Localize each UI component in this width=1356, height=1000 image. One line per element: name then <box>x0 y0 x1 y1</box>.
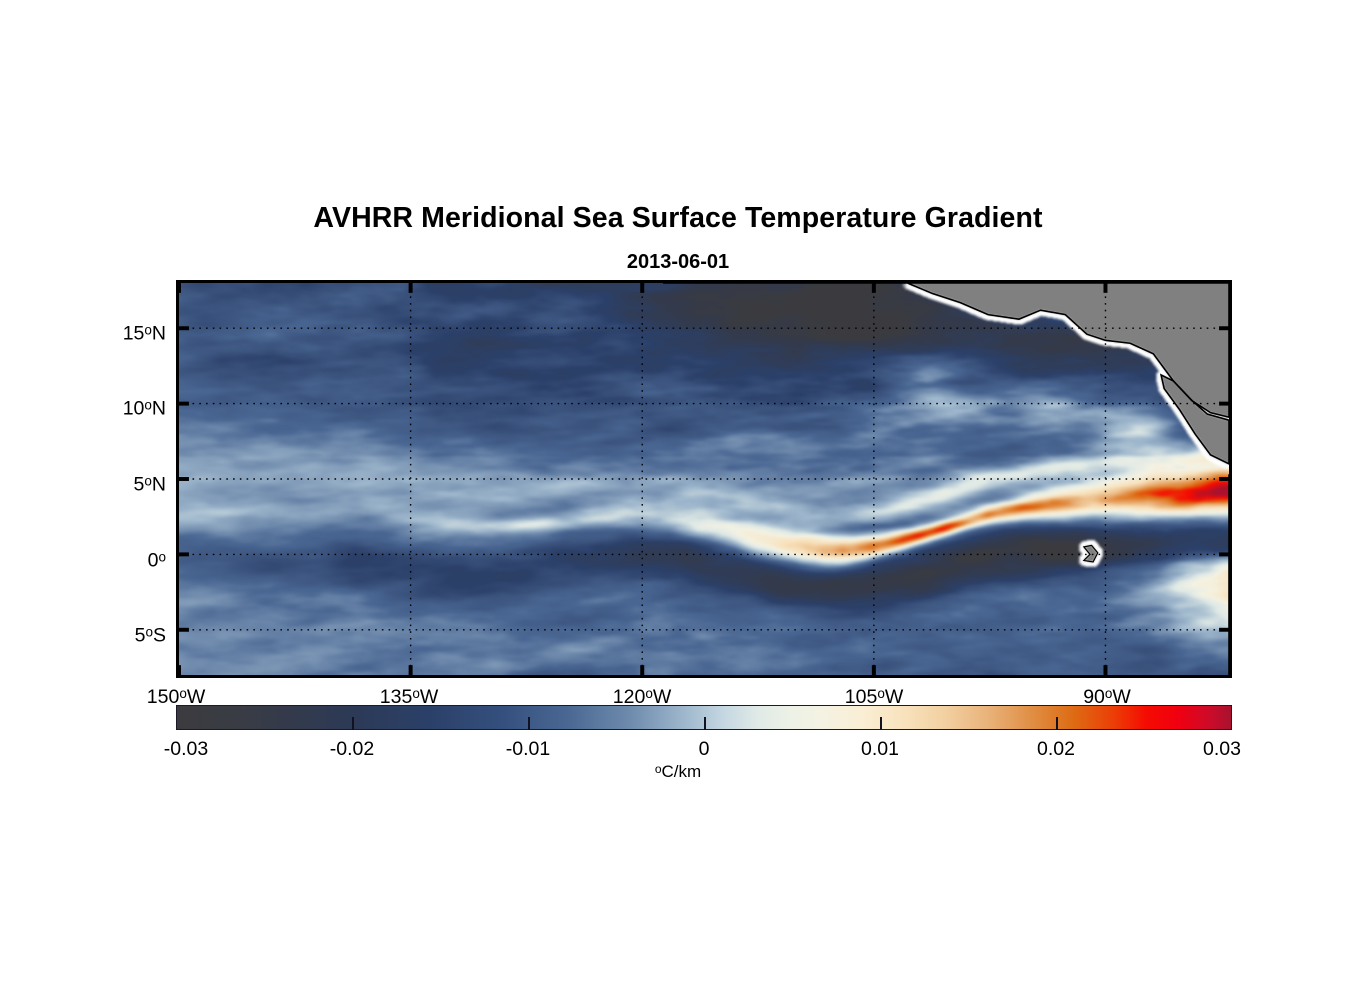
colorbar-tick-zero <box>704 717 706 730</box>
y-tick-label-0: 0o <box>56 550 166 573</box>
colorbar[interactable] <box>176 705 1232 730</box>
colorbar-label-zero: 0 <box>699 738 710 761</box>
y-tick-label-15n: 15oN <box>56 323 166 346</box>
colorbar-label-neg001: -0.01 <box>506 738 550 761</box>
colorbar-tick-pos001 <box>880 717 882 730</box>
colorbar-label-neg002: -0.02 <box>330 738 374 761</box>
y-tick-label-10n: 10oN <box>56 398 166 421</box>
colorbar-unit-label: oC/km <box>0 762 1356 782</box>
colorbar-label-pos001: 0.01 <box>861 738 899 761</box>
page-title: AVHRR Meridional Sea Surface Temperature… <box>0 202 1356 235</box>
colorbar-tick-neg002 <box>352 717 354 730</box>
y-tick-label-5n: 5oN <box>56 474 166 497</box>
colorbar-label-neg003: -0.03 <box>164 738 208 761</box>
colorbar-label-pos003: 0.03 <box>1203 738 1241 761</box>
chart-subtitle-date: 2013-06-01 <box>0 251 1356 274</box>
sst-gradient-heatmap <box>179 283 1229 675</box>
colorbar-tick-neg001 <box>528 717 530 730</box>
colorbar-tick-pos002 <box>1056 717 1058 730</box>
y-tick-label-5s: 5oS <box>56 625 166 648</box>
figure-container: AVHRR Meridional Sea Surface Temperature… <box>0 0 1356 1000</box>
colorbar-label-pos002: 0.02 <box>1037 738 1075 761</box>
map-plot-area[interactable] <box>176 280 1232 678</box>
